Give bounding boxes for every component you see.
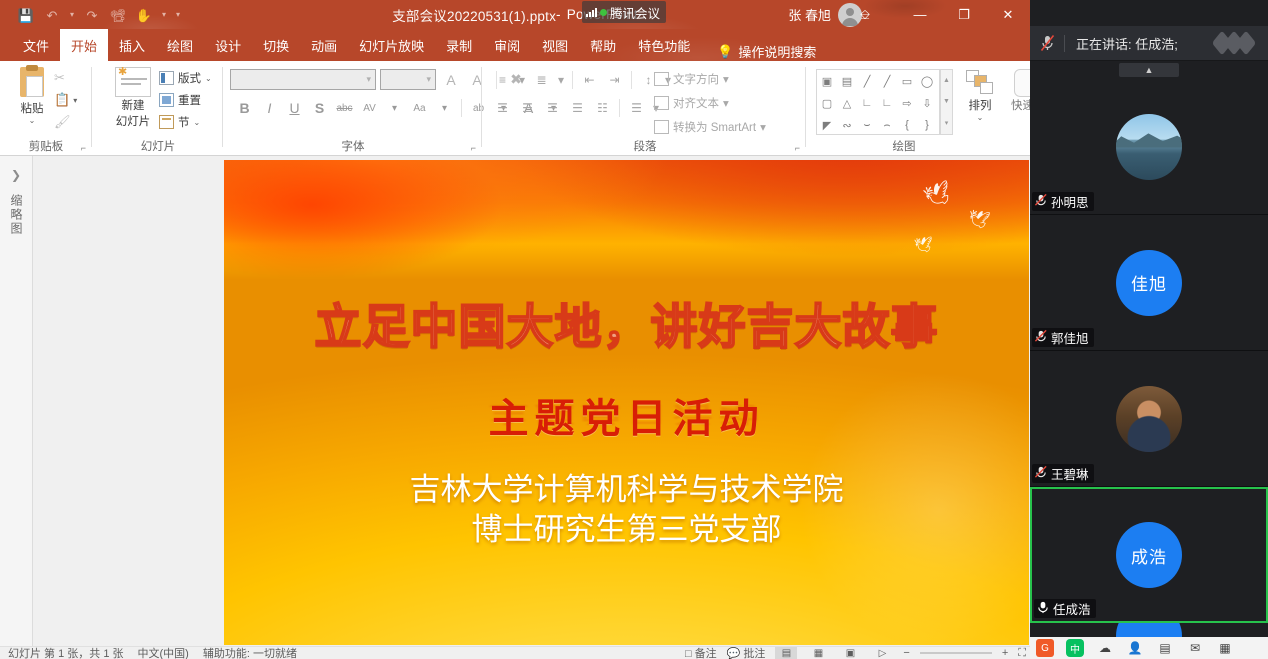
fit-slide-icon[interactable]: ⛶ <box>1018 647 1026 659</box>
comments-label: 批注 <box>743 648 765 659</box>
numbering-icon[interactable]: ≣ <box>529 69 554 91</box>
convert-smartart-button[interactable]: 转换为 SmartArt ▾ <box>654 115 766 139</box>
align-left-icon[interactable]: ☰ <box>490 97 515 119</box>
divider <box>631 71 632 89</box>
redo-icon[interactable]: ↷ <box>80 4 104 26</box>
chevron-up-icon[interactable]: ▲ <box>1119 63 1179 77</box>
screen: 支部会议20220531(1).pptx - PowerPoint 💾 ↶ ▾ … <box>0 0 1268 659</box>
text-direction-label: 文字方向 <box>673 71 719 87</box>
group-divider <box>91 67 92 147</box>
avatar: 成浩 <box>1116 522 1182 588</box>
ribbon-group-slides: ✱ 新建 幻灯片 版式 ⌄ 重置 节 <box>93 61 223 156</box>
reset-icon <box>159 93 174 107</box>
participant-name-badge: 孙明思 <box>1032 192 1094 211</box>
line-icon[interactable]: ╱ <box>857 70 877 92</box>
workspace: ❯ 缩略图 🕊 🕊 🕊 立足中国大地，讲好吉大故事 主题党日活动 主题党日活动 … <box>0 156 1030 646</box>
avatar-initials: 佳旭 <box>1131 270 1167 295</box>
ribbon-group-drawing: ▣ ▤ ╱ ╱ ▭ ◯ ▢ △ ∟ ∟ ⇨ ⇩ <box>808 61 1030 156</box>
arrange-icon <box>964 69 996 97</box>
group-divider <box>222 67 223 147</box>
participant-tiles: 孙明思 佳旭 王碧琳 郭佳旭 <box>1030 79 1268 624</box>
scissors-icon: ✂ <box>54 70 65 86</box>
layout-label: 版式 <box>178 70 201 86</box>
bold-button[interactable]: B <box>232 97 257 119</box>
window-controls: ⎒ — ❐ ✕ <box>842 0 1030 29</box>
quick-access-toolbar: 💾 ↶ ▾ ↷ 📽 ✋ ▾ ▾ <box>14 4 184 26</box>
participant-tile-renchenghao[interactable]: 成浩 任成浩 <box>1030 487 1268 623</box>
slide-sorter-icon[interactable]: ▦ <box>807 647 829 659</box>
elbow-arrow-icon[interactable]: ∟ <box>877 92 897 114</box>
slide-count-label: 幻灯片 第 1 张，共 1 张 <box>8 646 124 659</box>
participant-tile-guojiaxu[interactable]: 佳旭 王碧琳 郭佳旭 <box>1030 215 1268 351</box>
chevron-right-icon[interactable]: ❯ <box>11 168 21 182</box>
participant-tile-sunmingsi[interactable]: 孙明思 <box>1030 79 1268 215</box>
ribbon-body: 粘贴 ⌄ ✂ 📋▾ 🖌 剪贴板 ⌐ ✱ 新建 幻灯片 <box>0 61 1030 156</box>
copy-chevron-down-icon[interactable]: ▾ <box>73 96 77 105</box>
notes-button[interactable]: □ 备注 <box>685 646 717 659</box>
slide-corner-glow <box>224 160 504 280</box>
start-slideshow-icon[interactable]: 📽 <box>106 4 130 26</box>
slide-area: 🕊 🕊 🕊 立足中国大地，讲好吉大故事 主题党日活动 主题党日活动 吉林大学计算… <box>33 156 1030 646</box>
tab-slideshow[interactable]: 幻灯片放映 <box>348 29 435 61</box>
slide-organization[interactable]: 吉林大学计算机科学与技术学院 博士研究生第三党支部 <box>224 470 1029 551</box>
columns-icon[interactable]: ☰ <box>624 97 649 119</box>
slides-commands: 版式 ⌄ 重置 节 ⌄ <box>159 67 221 133</box>
arrow-line-icon[interactable]: ╱ <box>877 70 897 92</box>
language-label[interactable]: 中文(中国) <box>138 646 189 659</box>
character-spacing-button[interactable]: AV <box>357 97 382 119</box>
font-size-chevron-down-icon: ▾ <box>426 74 431 85</box>
clipboard-dialog-launcher[interactable]: ⌐ <box>81 143 86 153</box>
divider <box>461 99 462 117</box>
slide-org-line1: 吉林大学计算机科学与技术学院 <box>224 470 1029 510</box>
tab-design[interactable]: 设计 <box>204 29 252 61</box>
undo-chevron-down-icon[interactable]: ▾ <box>66 4 78 26</box>
slideshow-icon[interactable]: ▷ <box>871 647 893 659</box>
drawing-group-label: 绘图 <box>808 138 1000 154</box>
new-slide-label-line2: 幻灯片 <box>107 113 159 129</box>
document-title: 支部会议20220531(1).pptx <box>392 5 556 25</box>
align-text-icon <box>654 96 669 110</box>
right-brace-icon[interactable]: } <box>917 114 937 136</box>
justify-icon[interactable]: ☰ <box>565 97 590 119</box>
title-separator: - <box>556 7 561 22</box>
tell-me-search[interactable]: 💡 操作说明搜索 <box>701 42 816 61</box>
paste-chevron-down-icon[interactable]: ⌄ <box>10 116 54 125</box>
clipboard-group-label: 剪贴板 <box>0 138 92 154</box>
tencent-meeting-floating-badge[interactable]: 腾讯会议 <box>582 1 666 23</box>
cut-button[interactable]: ✂ <box>52 67 90 89</box>
format-painter-button[interactable]: 🖌 <box>52 111 90 133</box>
shape-row: ▢ △ ∟ ∟ ⇨ ⇩ <box>817 92 939 114</box>
vertical-text-box-icon[interactable]: ▤ <box>837 70 857 92</box>
tab-transitions[interactable]: 切换 <box>252 29 300 61</box>
slide-canvas[interactable]: 🕊 🕊 🕊 立足中国大地，讲好吉大故事 主题党日活动 主题党日活动 吉林大学计算… <box>224 160 1029 645</box>
arrange-label: 排列 <box>960 97 1000 113</box>
tab-draw[interactable]: 绘图 <box>156 29 204 61</box>
tab-special-features[interactable]: 特色功能 <box>627 29 701 61</box>
user-name: 张 春旭 <box>788 5 831 24</box>
text-direction-icon <box>654 72 669 86</box>
distribute-icon[interactable]: ☷ <box>590 97 615 119</box>
paragraph-row-bottom: ☰ ☰ ☰ ☰ ☷ ☰ ▾ <box>490 97 663 119</box>
copy-icon: 📋 <box>54 92 70 108</box>
notes-label: 备注 <box>695 648 717 659</box>
shapes-scroll-up-icon[interactable]: ▲ <box>941 70 952 91</box>
tab-review[interactable]: 审阅 <box>483 29 531 61</box>
avatar-initials: 成浩 <box>1131 543 1167 568</box>
paragraph-group-label: 段落 <box>484 138 806 154</box>
slides-group-label: 幻灯片 <box>93 138 223 154</box>
align-center-icon[interactable]: ☰ <box>515 97 540 119</box>
font-dialog-launcher[interactable]: ⌐ <box>471 143 476 153</box>
grow-font-button[interactable]: A <box>440 69 462 90</box>
minimize-button[interactable]: — <box>898 0 942 29</box>
customize-qat-icon[interactable]: ▾ <box>172 4 184 26</box>
shape-row: ◤ ∾ ⌣ ⌢ { } <box>817 114 939 136</box>
ribbon-group-paragraph: ≡ ▾ ≣ ▾ ⇤ ⇥ ↕ ▾ ☰ ☰ ☰ ☰ ☷ <box>484 61 806 156</box>
text-box-icon[interactable]: ▣ <box>817 70 837 92</box>
slide-title[interactable]: 立足中国大地，讲好吉大故事 <box>224 288 1029 357</box>
tencent-meeting-panel: 正在讲话: 任成浩; ▲ 孙明思 佳旭 <box>1030 0 1268 659</box>
text-direction-button[interactable]: 文字方向 ▾ <box>654 67 729 91</box>
paste-button[interactable]: 粘贴 ⌄ <box>10 67 54 125</box>
character-spacing-chevron-down-icon[interactable]: ▾ <box>382 97 407 119</box>
wechat-icon[interactable]: 中 <box>1066 639 1084 657</box>
new-slide-icon: ✱ <box>115 67 151 97</box>
tencent-meeting-logo-icon <box>1218 35 1254 51</box>
tab-home[interactable]: 开始 <box>60 29 108 61</box>
tab-view[interactable]: 视图 <box>531 29 579 61</box>
paste-icon <box>17 67 47 99</box>
divider <box>619 99 620 117</box>
touch-chevron-down-icon[interactable]: ▾ <box>158 4 170 26</box>
font-group-label: 字体 <box>224 138 482 154</box>
ribbon-group-clipboard: 粘贴 ⌄ ✂ 📋▾ 🖌 剪贴板 ⌐ <box>0 61 92 156</box>
convert-smartart-label: 转换为 SmartArt <box>673 119 756 135</box>
paragraph-dialog-launcher[interactable]: ⌐ <box>795 143 800 153</box>
align-text-label: 对齐文本 <box>673 95 719 111</box>
avatar: 佳旭 <box>1116 250 1182 316</box>
down-arrow-icon[interactable]: ⇩ <box>917 92 937 114</box>
status-bar-left: 幻灯片 第 1 张，共 1 张 中文(中国) 辅助功能: 一切就绪 <box>0 646 297 659</box>
section-icon <box>159 115 174 129</box>
panel-collapse-button[interactable]: ▲ <box>1030 61 1268 79</box>
layout-icon <box>159 71 174 85</box>
normal-view-icon[interactable]: ▤ <box>775 647 797 659</box>
shapes-more-icon[interactable]: ▾ <box>941 112 952 133</box>
clipboard-small-commands: ✂ 📋▾ 🖌 <box>52 67 90 133</box>
tell-me-label: 操作说明搜索 <box>738 42 816 61</box>
participant-tile-wangbilin[interactable]: 王碧琳 <box>1030 351 1268 487</box>
mic-muted-icon <box>1034 465 1048 482</box>
thumbnail-pane-label: 缩略图 <box>9 194 25 236</box>
zoom-out-button[interactable]: − <box>903 647 909 659</box>
layout-chevron-down-icon[interactable]: ⌄ <box>205 74 212 83</box>
layout-button[interactable]: 版式 ⌄ <box>159 67 221 89</box>
speaking-status-label: 正在讲话: 任成浩; <box>1065 34 1178 53</box>
strikethrough-button[interactable]: abc <box>332 97 357 119</box>
reset-button[interactable]: 重置 <box>159 89 221 111</box>
reading-view-icon[interactable]: ▣ <box>839 647 861 659</box>
participant-name-badge: 王碧琳 <box>1032 464 1094 483</box>
align-text-button[interactable]: 对齐文本 ▾ <box>654 91 729 115</box>
right-arrow-icon[interactable]: ⇨ <box>897 92 917 114</box>
new-slide-button[interactable]: ✱ 新建 幻灯片 <box>107 67 159 129</box>
font-row-top: ▾ ▾ A A ✖ <box>230 69 527 90</box>
ribbon-tab-bar: 文件 开始 插入 绘图 设计 切换 动画 幻灯片放映 录制 审阅 视图 帮助 特… <box>0 29 1030 61</box>
mail-icon[interactable]: ✉ <box>1186 639 1204 657</box>
bullets-icon[interactable]: ≡ <box>490 69 515 91</box>
meeting-header: 正在讲话: 任成浩; <box>1030 26 1268 61</box>
folded-corner-icon[interactable]: ◤ <box>817 114 837 136</box>
ribbon-display-options-icon[interactable]: ⎒ <box>842 0 888 29</box>
status-bar-right: □ 备注 💬 批注 ▤ ▦ ▣ ▷ − + ⛶ <box>685 646 1026 659</box>
tab-help[interactable]: 帮助 <box>579 29 627 61</box>
paragraph-row-top: ≡ ▾ ≣ ▾ ⇤ ⇥ ↕ ▾ <box>490 69 675 91</box>
shapes-gallery-scrollbar[interactable]: ▲ ▼ ▾ <box>940 69 953 135</box>
smartart-icon <box>654 120 669 134</box>
shapes-gallery[interactable]: ▣ ▤ ╱ ╱ ▭ ◯ ▢ △ ∟ ∟ ⇨ ⇩ <box>816 69 940 135</box>
dove-icon: 🕊 <box>913 235 934 255</box>
change-case-chevron-down-icon[interactable]: ▾ <box>432 97 457 119</box>
mic-unmuted-icon <box>1036 600 1050 617</box>
dove-icon: 🕊 <box>966 208 991 231</box>
mic-muted-icon[interactable] <box>1030 34 1064 52</box>
font-name-input[interactable]: ▾ <box>230 69 376 90</box>
zoom-in-button[interactable]: + <box>1002 647 1008 659</box>
align-text-chevron-down-icon[interactable]: ▾ <box>723 96 729 110</box>
title-bar: 支部会议20220531(1).pptx - PowerPoint 💾 ↶ ▾ … <box>0 0 1030 29</box>
decrease-indent-icon[interactable]: ⇤ <box>577 69 602 91</box>
left-brace-icon[interactable]: { <box>897 114 917 136</box>
text-shadow-button[interactable]: S <box>307 97 332 119</box>
touch-mode-icon[interactable]: ✋ <box>132 4 156 26</box>
participant-name: 王碧琳 <box>1051 464 1089 483</box>
participant-name: 任成浩 <box>1053 599 1091 618</box>
person-icon[interactable]: 👤 <box>1126 639 1144 657</box>
group-divider <box>481 67 482 147</box>
elbow-connector-icon[interactable]: ∟ <box>857 92 877 114</box>
numbering-chevron-down-icon[interactable]: ▾ <box>554 69 568 91</box>
section-button[interactable]: 节 ⌄ <box>159 111 221 133</box>
rectangle-icon[interactable]: ▭ <box>897 70 917 92</box>
oval-icon[interactable]: ◯ <box>917 70 937 92</box>
participant-name-badge: 王碧琳 郭佳旭 <box>1032 328 1094 347</box>
arrange-button[interactable]: 排列 ⌄ <box>960 69 1000 122</box>
slide-org-line2: 博士研究生第三党支部 <box>224 510 1029 550</box>
triangle-icon[interactable]: △ <box>837 92 857 114</box>
thumbnail-pane[interactable]: ❯ 缩略图 <box>0 156 33 646</box>
font-size-input[interactable]: ▾ <box>380 69 436 90</box>
tab-insert[interactable]: 插入 <box>108 29 156 61</box>
arc-icon[interactable]: ⌣ <box>857 114 877 136</box>
avatar <box>1116 386 1182 452</box>
participant-name: 郭佳旭 <box>1051 328 1089 347</box>
group-divider <box>805 67 806 147</box>
powerpoint-window: 支部会议20220531(1).pptx - PowerPoint 💾 ↶ ▾ … <box>0 0 1030 659</box>
new-slide-label-line1: 新建 <box>107 97 159 113</box>
comments-icon: 💬 <box>727 648 741 659</box>
signal-bars-icon <box>586 7 597 17</box>
slide-subtitle-reflection: 主题党日活动 <box>224 400 1029 432</box>
tab-file[interactable]: 文件 <box>12 29 60 61</box>
orange-app-icon[interactable]: G <box>1036 639 1054 657</box>
notes-icon: □ <box>685 648 692 659</box>
bullets-chevron-down-icon[interactable]: ▾ <box>515 69 529 91</box>
accessibility-label[interactable]: 辅助功能: 一切就绪 <box>203 646 297 659</box>
reset-label: 重置 <box>178 92 201 108</box>
copy-button[interactable]: 📋▾ <box>52 89 90 111</box>
paste-label: 粘贴 <box>10 100 54 116</box>
save-icon[interactable]: 💾 <box>14 4 38 26</box>
curve-icon[interactable]: ⌢ <box>877 114 897 136</box>
format-painter-icon: 🖌 <box>54 114 71 130</box>
shape-row: ▣ ▤ ╱ ╱ ▭ ◯ <box>817 70 939 92</box>
rounded-rectangle-icon[interactable]: ▢ <box>817 92 837 114</box>
shapes-scroll-down-icon[interactable]: ▼ <box>941 91 952 112</box>
zoom-slider[interactable] <box>920 652 992 654</box>
arrange-chevron-down-icon[interactable]: ⌄ <box>960 113 1000 122</box>
smartart-chevron-down-icon[interactable]: ▾ <box>760 120 766 134</box>
ribbon-tabs: 文件 开始 插入 绘图 设计 切换 动画 幻灯片放映 录制 审阅 视图 帮助 特… <box>0 29 1030 61</box>
folder-icon[interactable]: ▤ <box>1156 639 1174 657</box>
lightbulb-icon: 💡 <box>717 44 733 60</box>
undo-icon[interactable]: ↶ <box>40 4 64 26</box>
ribbon-group-font: ▾ ▾ A A ✖ B I U S abc AV ▾ <box>224 61 482 156</box>
italic-button[interactable]: I <box>257 97 282 119</box>
participant-name-badge: 任成浩 <box>1034 599 1096 618</box>
tencent-meeting-badge-label: 腾讯会议 <box>610 3 660 22</box>
divider <box>572 71 573 89</box>
avatar <box>1116 114 1182 180</box>
font-name-chevron-down-icon: ▾ <box>366 74 371 85</box>
cloud-icon[interactable]: ☁ <box>1096 639 1114 657</box>
calc-icon[interactable]: ▦ <box>1216 639 1234 657</box>
tab-record[interactable]: 录制 <box>435 29 483 61</box>
mic-muted-icon <box>1034 329 1048 346</box>
mic-muted-icon <box>1034 193 1048 210</box>
participant-name: 孙明思 <box>1051 192 1089 211</box>
status-bar: 幻灯片 第 1 张，共 1 张 中文(中国) 辅助功能: 一切就绪 □ 备注 💬… <box>0 646 1030 659</box>
tab-animations[interactable]: 动画 <box>300 29 348 61</box>
restore-button[interactable]: ❐ <box>942 0 986 29</box>
section-label: 节 <box>178 114 190 130</box>
comments-button[interactable]: 💬 批注 <box>727 646 766 659</box>
section-chevron-down-icon[interactable]: ⌄ <box>194 118 201 127</box>
underline-button[interactable]: U <box>282 97 307 119</box>
text-direction-chevron-down-icon[interactable]: ▾ <box>723 72 729 86</box>
green-dot-icon <box>600 9 607 16</box>
increase-indent-icon[interactable]: ⇥ <box>602 69 627 91</box>
paragraph-text-commands: 文字方向 ▾ 对齐文本 ▾ 转换为 SmartArt ▾ <box>654 67 766 139</box>
close-button[interactable]: ✕ <box>986 0 1030 29</box>
align-right-icon[interactable]: ☰ <box>540 97 565 119</box>
change-case-button[interactable]: Aa <box>407 97 432 119</box>
windows-taskbar: G 中 ☁ 👤 ▤ ✉ ▦ <box>1030 637 1268 659</box>
freeform-icon[interactable]: ∾ <box>837 114 857 136</box>
